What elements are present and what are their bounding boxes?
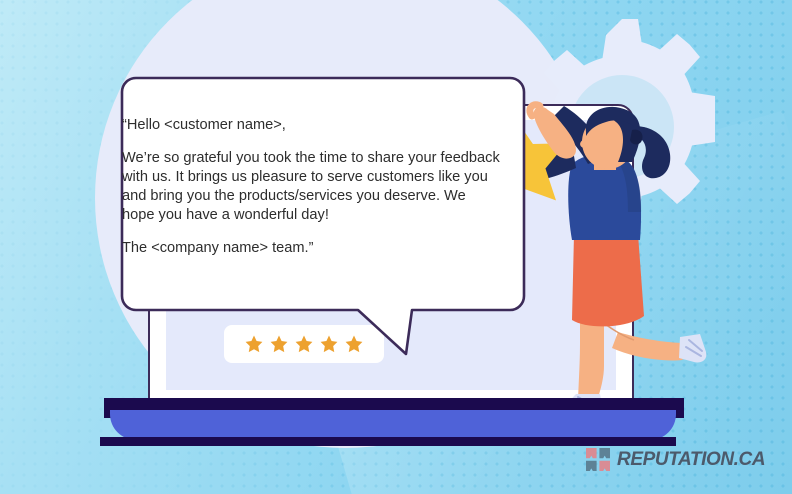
four-square-grid-icon	[586, 448, 610, 471]
logo-wordmark: REPUTATION.CA	[617, 449, 765, 471]
bubble-paragraph-greeting: “Hello <customer name>,	[122, 116, 500, 135]
laptop-base-shadow	[100, 437, 676, 446]
reply-template-text: “Hello <customer name>, We’re so gratefu…	[122, 116, 500, 258]
review-reply-speech-bubble: “Hello <customer name>, We’re so gratefu…	[100, 70, 536, 360]
bubble-paragraph-signoff: The <company name> team.”	[122, 239, 500, 258]
reputation-ca-logo[interactable]: REPUTATION.CA	[586, 448, 765, 471]
laptop-base-body	[110, 410, 676, 440]
illustration-canvas: “Hello <customer name>, We’re so gratefu…	[0, 0, 792, 494]
bubble-paragraph-body: We’re so grateful you took the time to s…	[122, 149, 500, 225]
